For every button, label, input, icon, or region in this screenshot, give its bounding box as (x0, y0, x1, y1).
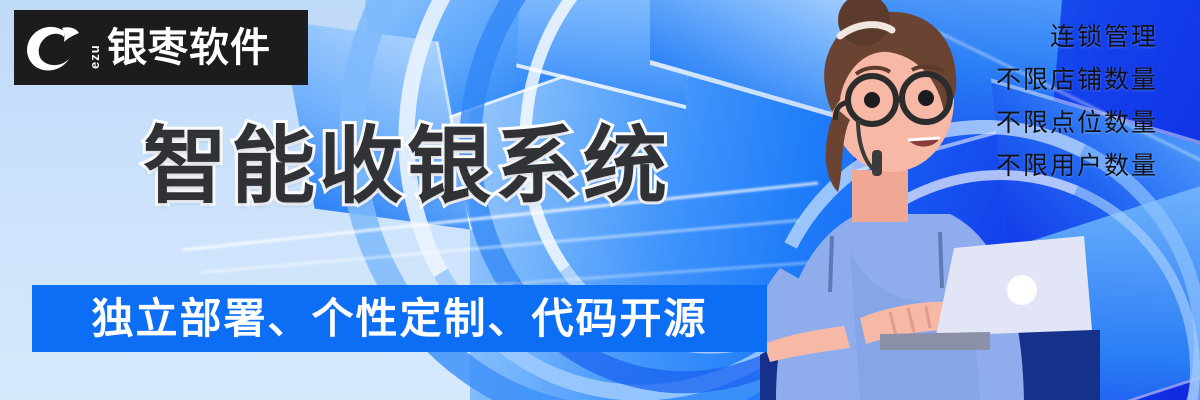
shirt-fold (830, 236, 832, 292)
headline-title: 智能收银系统 (143, 124, 671, 208)
laptop-keyboard-base (880, 332, 990, 350)
logo-latin-mark: ezu (88, 27, 101, 69)
shirt-fold (940, 232, 942, 288)
swoosh-comet-icon (24, 22, 82, 74)
logo-brand-name: 银枣软件 (107, 28, 271, 68)
subtitle-bar: 独立部署、个性定制、代码开源 (32, 285, 767, 352)
feature-item: 不限店铺数量 (996, 67, 1158, 92)
brand-logo[interactable]: ezu 银枣软件 (14, 10, 308, 85)
feature-list: 连锁管理 不限店铺数量 不限点位数量 不限用户数量 (838, 24, 1158, 178)
feature-item: 不限用户数量 (996, 153, 1158, 178)
subtitle-text: 独立部署、个性定制、代码开源 (91, 298, 707, 340)
feature-item: 连锁管理 (1050, 24, 1158, 49)
promo-banner: ezu 银枣软件 智能收银系统 独立部署、个性定制、代码开源 连锁管理 不限店铺… (0, 0, 1200, 400)
laptop-logo-icon (1007, 275, 1037, 305)
feature-item: 不限点位数量 (996, 110, 1158, 135)
